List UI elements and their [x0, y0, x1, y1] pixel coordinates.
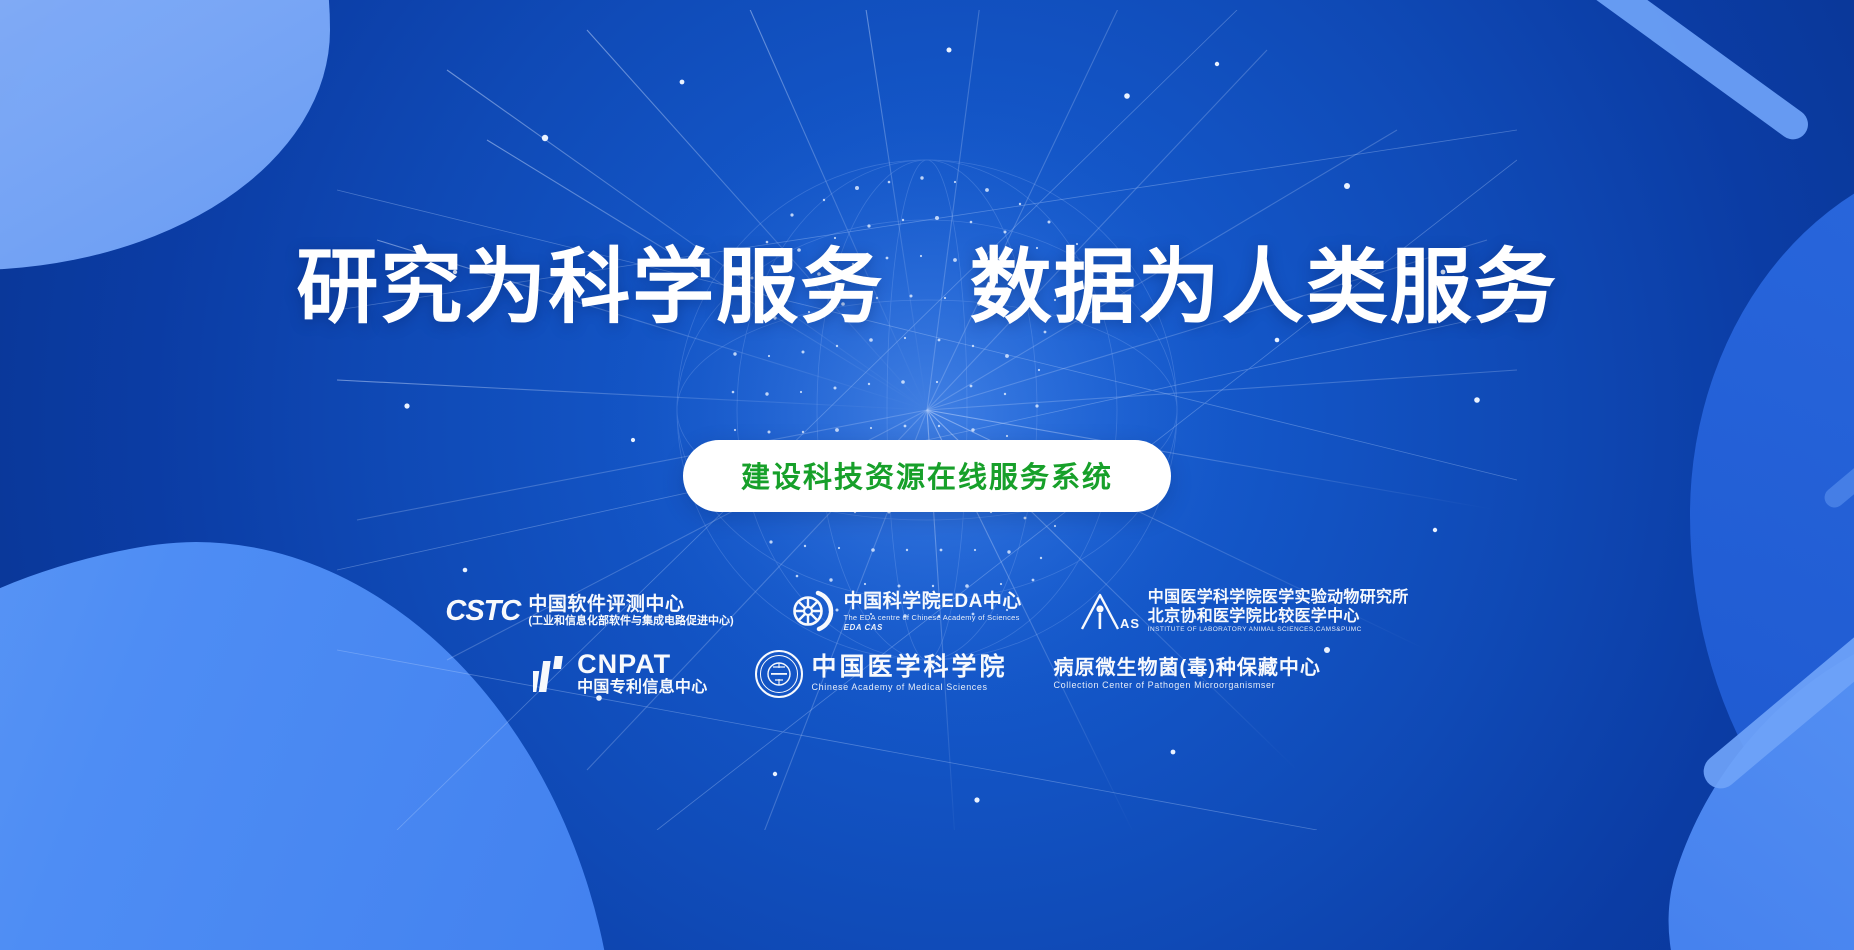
- logo-cams-text: 中国医学科学院 Chinese Academy of Medical Scien…: [812, 654, 1008, 693]
- cnpat-bars-icon: [533, 655, 569, 693]
- partner-logo-row-1: CSTC 中国软件评测中心 (工业和信息化部软件与集成电路促进中心): [445, 588, 1408, 635]
- logo-cnpat[interactable]: CNPAT 中国专利信息中心: [533, 651, 707, 697]
- partner-logo-row-2: CNPAT 中国专利信息中心 中国医学科学院: [533, 649, 1321, 699]
- logo-ilas-name-en: INSTITUTE OF LABORATORY ANIMAL SCIENCES,…: [1148, 626, 1409, 634]
- banner-headline: 研究为科学服务 数据为人类服务: [0, 244, 1854, 333]
- ilas-emblem-icon: AS: [1078, 589, 1140, 633]
- logo-ilas[interactable]: AS 中国医学科学院医学实验动物研究所 北京协和医学院比较医学中心 INSTIT…: [1078, 588, 1409, 635]
- logo-cstc-text: 中国软件评测中心 (工业和信息化部软件与集成电路促进中心): [528, 594, 733, 630]
- logo-ilas-name-cn-1: 中国医学科学院医学实验动物研究所: [1148, 588, 1409, 607]
- logo-cams-name-en: Chinese Academy of Medical Sciences: [812, 682, 1008, 694]
- headline-part-2: 数据为人类服务: [970, 242, 1558, 333]
- logo-cnpat-wordmark: CNPAT: [577, 651, 707, 678]
- logo-cams-name-cn: 中国医学科学院: [812, 654, 1008, 682]
- logo-eda-cas-name-cn: 中国科学院EDA中心: [844, 591, 1022, 613]
- cstc-wordmark-icon: CSTC: [445, 597, 520, 626]
- logo-eda-cas[interactable]: 中国科学院EDA中心 The EDA centre of Chinese Aca…: [790, 589, 1022, 633]
- logo-pathogen-collection-center[interactable]: 病原微生物菌(毒)种保藏中心 Collection Center of Path…: [1054, 656, 1321, 692]
- headline-part-1: 研究为科学服务: [296, 242, 884, 333]
- subtitle-pill-button[interactable]: 建设科技资源在线服务系统: [683, 440, 1171, 512]
- decor-diagonal-bar-4: [1820, 348, 1854, 511]
- logo-eda-cas-tag: EDA CAS: [844, 623, 1022, 632]
- cstc-wordmark-text: CSTC: [445, 597, 520, 626]
- logo-cnpat-text: CNPAT 中国专利信息中心: [577, 651, 707, 697]
- logo-ilas-name-cn-2: 北京协和医学院比较医学中心: [1148, 607, 1409, 626]
- logo-eda-cas-name-en: The EDA centre of Chinese Academy of Sci…: [844, 613, 1022, 623]
- decor-blob-bottom-right: [1600, 516, 1854, 950]
- cams-seal-icon: [754, 649, 804, 699]
- logo-eda-cas-text: 中国科学院EDA中心 The EDA centre of Chinese Aca…: [844, 591, 1022, 632]
- decor-blob-top-left: [0, 0, 330, 270]
- partner-logos: CSTC 中国软件评测中心 (工业和信息化部软件与集成电路促进中心): [0, 588, 1854, 699]
- hero-banner: 研究为科学服务 数据为人类服务 建设科技资源在线服务系统 CSTC 中国软件评测…: [0, 0, 1854, 950]
- logo-pathogen-name-en: Collection Center of Pathogen Microorgan…: [1054, 680, 1321, 692]
- logo-cstc-sub-cn: (工业和信息化部软件与集成电路促进中心): [528, 615, 733, 629]
- logo-pathogen-name-cn: 病原微生物菌(毒)种保藏中心: [1054, 656, 1321, 680]
- logo-cams[interactable]: 中国医学科学院 Chinese Academy of Medical Scien…: [754, 649, 1008, 699]
- logo-cstc-name-cn: 中国软件评测中心: [528, 594, 733, 616]
- logo-cnpat-name-cn: 中国专利信息中心: [577, 678, 707, 697]
- svg-text:AS: AS: [1120, 616, 1140, 631]
- particle-globe-graphic: [337, 10, 1517, 830]
- logo-pathogen-text: 病原微生物菌(毒)种保藏中心 Collection Center of Path…: [1054, 656, 1321, 692]
- logo-ilas-text: 中国医学科学院医学实验动物研究所 北京协和医学院比较医学中心 INSTITUTE…: [1148, 588, 1409, 635]
- eda-cas-emblem-icon: [790, 589, 836, 633]
- logo-cstc[interactable]: CSTC 中国软件评测中心 (工业和信息化部软件与集成电路促进中心): [445, 594, 733, 630]
